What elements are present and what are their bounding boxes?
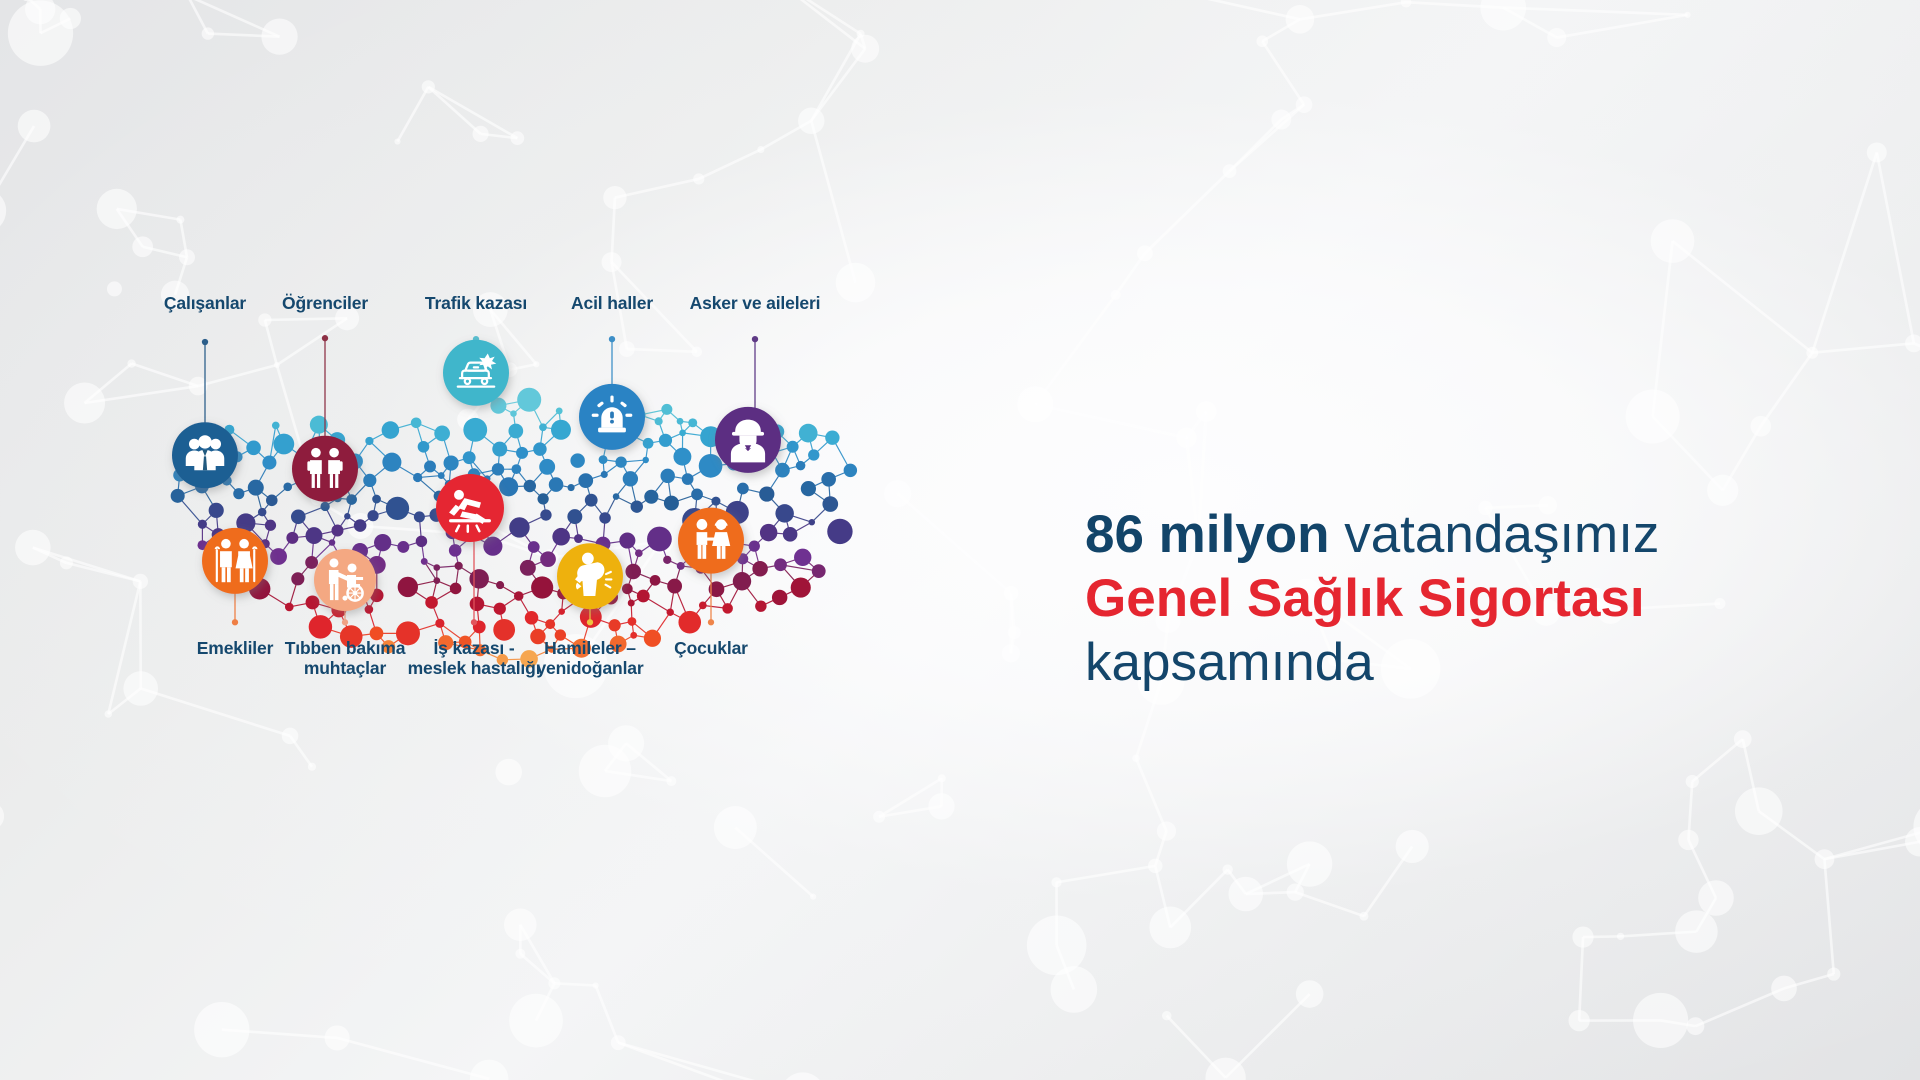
headline-block: 86 milyon vatandaşımız Genel Sağlık Sigo… <box>1085 505 1845 693</box>
two-children-icon[interactable] <box>678 508 744 574</box>
emergency-siren-icon[interactable] <box>579 384 645 450</box>
headline-line-1-rest: vatandaşımız <box>1329 505 1659 564</box>
callout-label-acil: Acil haller <box>571 293 653 313</box>
headline-count: 86 milyon <box>1085 505 1329 564</box>
students-backpack-icon[interactable] <box>292 436 358 502</box>
pregnant-woman-icon[interactable] <box>557 543 623 609</box>
callout-label-calisanlar: Çalışanlar <box>164 293 246 313</box>
callout-label-ogrenciler: Öğrenciler <box>282 293 368 313</box>
headline-line-3: kapsamında <box>1085 633 1845 693</box>
elderly-couple-icon[interactable] <box>202 528 268 594</box>
headline-line-1: 86 milyon vatandaşımız <box>1085 505 1845 565</box>
callout-label-iskazasi: İş kazası - meslek hastalığı <box>408 638 541 678</box>
callout-leader-line <box>752 336 758 409</box>
callout-leader-line <box>232 590 238 626</box>
wheelchair-care-icon[interactable] <box>314 549 376 611</box>
slip-fall-icon[interactable] <box>436 474 504 542</box>
callout-label-emekliler: Emekliler <box>197 638 273 658</box>
callout-label-asker: Asker ve aileleri <box>690 293 821 313</box>
callout-label-bakim: Tıbben bakıma muhtaçlar <box>285 638 406 678</box>
soldier-icon[interactable] <box>715 407 781 473</box>
infographic-canvas: ÇalışanlarÖğrencilerTrafik kazasıAcil ha… <box>0 0 1920 1080</box>
car-crash-icon[interactable] <box>443 340 509 406</box>
workers-group-icon[interactable] <box>172 422 238 488</box>
turkey-network-map <box>150 318 870 748</box>
callout-label-cocuklar: Çocuklar <box>674 638 748 658</box>
headline-line-2: Genel Sağlık Sigortası <box>1085 569 1845 629</box>
callout-label-trafik: Trafik kazası <box>425 293 527 313</box>
callout-label-hamileler: Hamileler – yenidoğanlar <box>536 638 643 678</box>
callout-leader-line <box>609 336 615 388</box>
